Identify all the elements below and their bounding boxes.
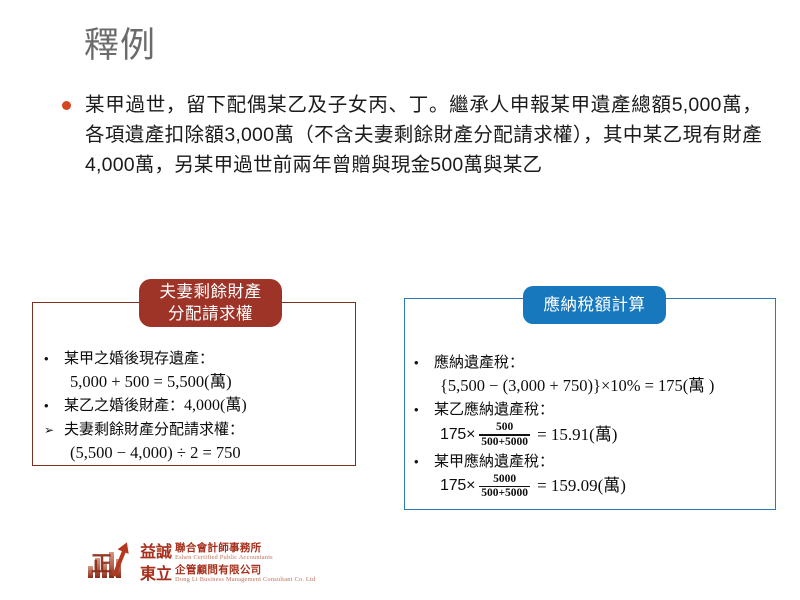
list-item: ➢ 夫妻剩餘財產分配請求權： (5,500 − 4,000) ÷ 2 = 750 xyxy=(44,419,350,464)
list-bullet-icon: • xyxy=(44,348,64,370)
list-item-label: 某甲之婚後現存遺產： xyxy=(64,350,214,367)
list-item-formula: {5,500 − (3,000 + 750)}×10% = 175(萬 ) xyxy=(434,374,770,397)
logo-line2-cn: 企管顧問有限公司 xyxy=(175,565,315,576)
logo-glyph: 正 xyxy=(91,548,112,578)
right-panel-list: • 應納遺產稅： {5,500 − (3,000 + 750)}×10% = 1… xyxy=(414,352,770,502)
list-item: • 應納遺產稅： {5,500 − (3,000 + 750)}×10% = 1… xyxy=(414,352,770,397)
logo-line2-brand: 東立 xyxy=(140,566,172,584)
fraction: 500 500+5000 xyxy=(479,421,530,449)
fraction: 5000 500+5000 xyxy=(479,473,530,501)
fraction-numerator: 5000 xyxy=(489,473,520,486)
fraction-tail: = 159.09(萬) xyxy=(537,476,626,496)
logo-arrow-head xyxy=(118,540,133,554)
fraction-denominator: 500+5000 xyxy=(479,436,530,449)
logo-line2-stack: 企管顧問有限公司 Dong Li Business Management Con… xyxy=(175,565,315,584)
panel-header-line2: 分配請求權 xyxy=(168,303,253,325)
arrow-bullet-icon: ➢ xyxy=(44,419,64,441)
list-item-content: 某乙之婚後財產：4,000(萬) xyxy=(64,395,350,417)
logo-line1-stack: 聯合會計師事務所 Eshen Certified Public Accounta… xyxy=(175,543,273,562)
left-panel-list: • 某甲之婚後現存遺產： 5,000 + 500 = 5,500(萬) • 某乙… xyxy=(44,348,350,466)
panel-header-line1: 應納稅額計算 xyxy=(544,294,646,316)
list-item-fraction-formula: 175× 500 500+5000 = 15.91(萬) xyxy=(434,421,770,449)
logo-line2-en: Dong Li Business Management Consultant C… xyxy=(175,576,315,584)
list-item-content: 某乙應納遺產稅： 175× 500 500+5000 = 15.91(萬) xyxy=(434,399,770,449)
list-item-formula: 5,000 + 500 = 5,500(萬) xyxy=(64,370,350,393)
fraction-numerator: 500 xyxy=(492,421,517,434)
list-item-label: 某乙應納遺產稅： xyxy=(434,401,554,418)
list-item-content: 某甲應納遺產稅： 175× 5000 500+5000 = 159.09(萬) xyxy=(434,451,770,501)
list-item-label: 應納遺產稅： xyxy=(434,354,524,371)
page-title: 釋例 xyxy=(84,26,156,66)
list-item: • 某甲應納遺產稅： 175× 5000 500+5000 = 159.09(萬… xyxy=(414,451,770,501)
list-item: • 某甲之婚後現存遺產： 5,000 + 500 = 5,500(萬) xyxy=(44,348,350,393)
logo-line-1: 益誠 聯合會計師事務所 Eshen Certified Public Accou… xyxy=(140,540,316,562)
list-bullet-icon: • xyxy=(414,399,434,421)
logo-line-2: 東立 企管顧問有限公司 Dong Li Business Management … xyxy=(140,562,316,584)
footer-company-logo: 正 益誠 聯合會計師事務所 Eshen Certified Public Acc… xyxy=(86,536,316,588)
panel-header-marital-remainder-claim: 夫妻剩餘財產 分配請求權 xyxy=(139,279,282,327)
fraction-lead: 175× xyxy=(440,476,475,496)
list-item-content: 某甲之婚後現存遺產： 5,000 + 500 = 5,500(萬) xyxy=(64,348,350,393)
list-item-inline-formula: 4,000(萬) xyxy=(184,397,247,414)
fraction-tail: = 15.91(萬) xyxy=(537,425,617,445)
list-item-label: 某乙之婚後財產： xyxy=(64,397,184,414)
fraction-lead: 175× xyxy=(440,425,475,445)
ascending-bar-chart-arrow-logo-icon: 正 xyxy=(86,540,134,584)
list-item-content: 夫妻剩餘財產分配請求權： (5,500 − 4,000) ÷ 2 = 750 xyxy=(64,419,350,464)
logo-text-block: 益誠 聯合會計師事務所 Eshen Certified Public Accou… xyxy=(140,540,316,584)
list-item-fraction-formula: 175× 5000 500+5000 = 159.09(萬) xyxy=(434,473,770,501)
fraction-denominator: 500+5000 xyxy=(479,487,530,500)
slide-canvas: 釋例 某甲過世，留下配偶某乙及子女丙、丁。繼承人申報某甲遺產總額5,000萬，各… xyxy=(0,0,800,600)
list-bullet-icon: • xyxy=(414,451,434,473)
list-item-label: 某甲應納遺產稅： xyxy=(434,453,554,470)
main-bullet-paragraph: 某甲過世，留下配偶某乙及子女丙、丁。繼承人申報某甲遺產總額5,000萬，各項遺產… xyxy=(62,90,762,180)
list-item: • 某乙之婚後財產：4,000(萬) xyxy=(44,395,350,417)
list-bullet-icon: • xyxy=(44,395,64,417)
panel-header-line1: 夫妻剩餘財產 xyxy=(160,281,262,303)
bullet-dot-icon xyxy=(62,101,71,110)
list-item-formula: (5,500 − 4,000) ÷ 2 = 750 xyxy=(64,441,350,464)
list-item-content: 應納遺產稅： {5,500 − (3,000 + 750)}×10% = 175… xyxy=(434,352,770,397)
logo-line1-cn: 聯合會計師事務所 xyxy=(175,543,273,554)
list-item: • 某乙應納遺產稅： 175× 500 500+5000 = 15.91(萬) xyxy=(414,399,770,449)
list-item-label: 夫妻剩餘財產分配請求權： xyxy=(64,421,244,438)
logo-line1-brand: 益誠 xyxy=(140,544,172,562)
main-bullet-text: 某甲過世，留下配偶某乙及子女丙、丁。繼承人申報某甲遺產總額5,000萬，各項遺產… xyxy=(85,90,762,180)
panel-header-tax-payable-calculation: 應納稅額計算 xyxy=(523,286,666,324)
list-bullet-icon: • xyxy=(414,352,434,374)
logo-line1-en: Eshen Certified Public Accountants xyxy=(175,554,273,562)
